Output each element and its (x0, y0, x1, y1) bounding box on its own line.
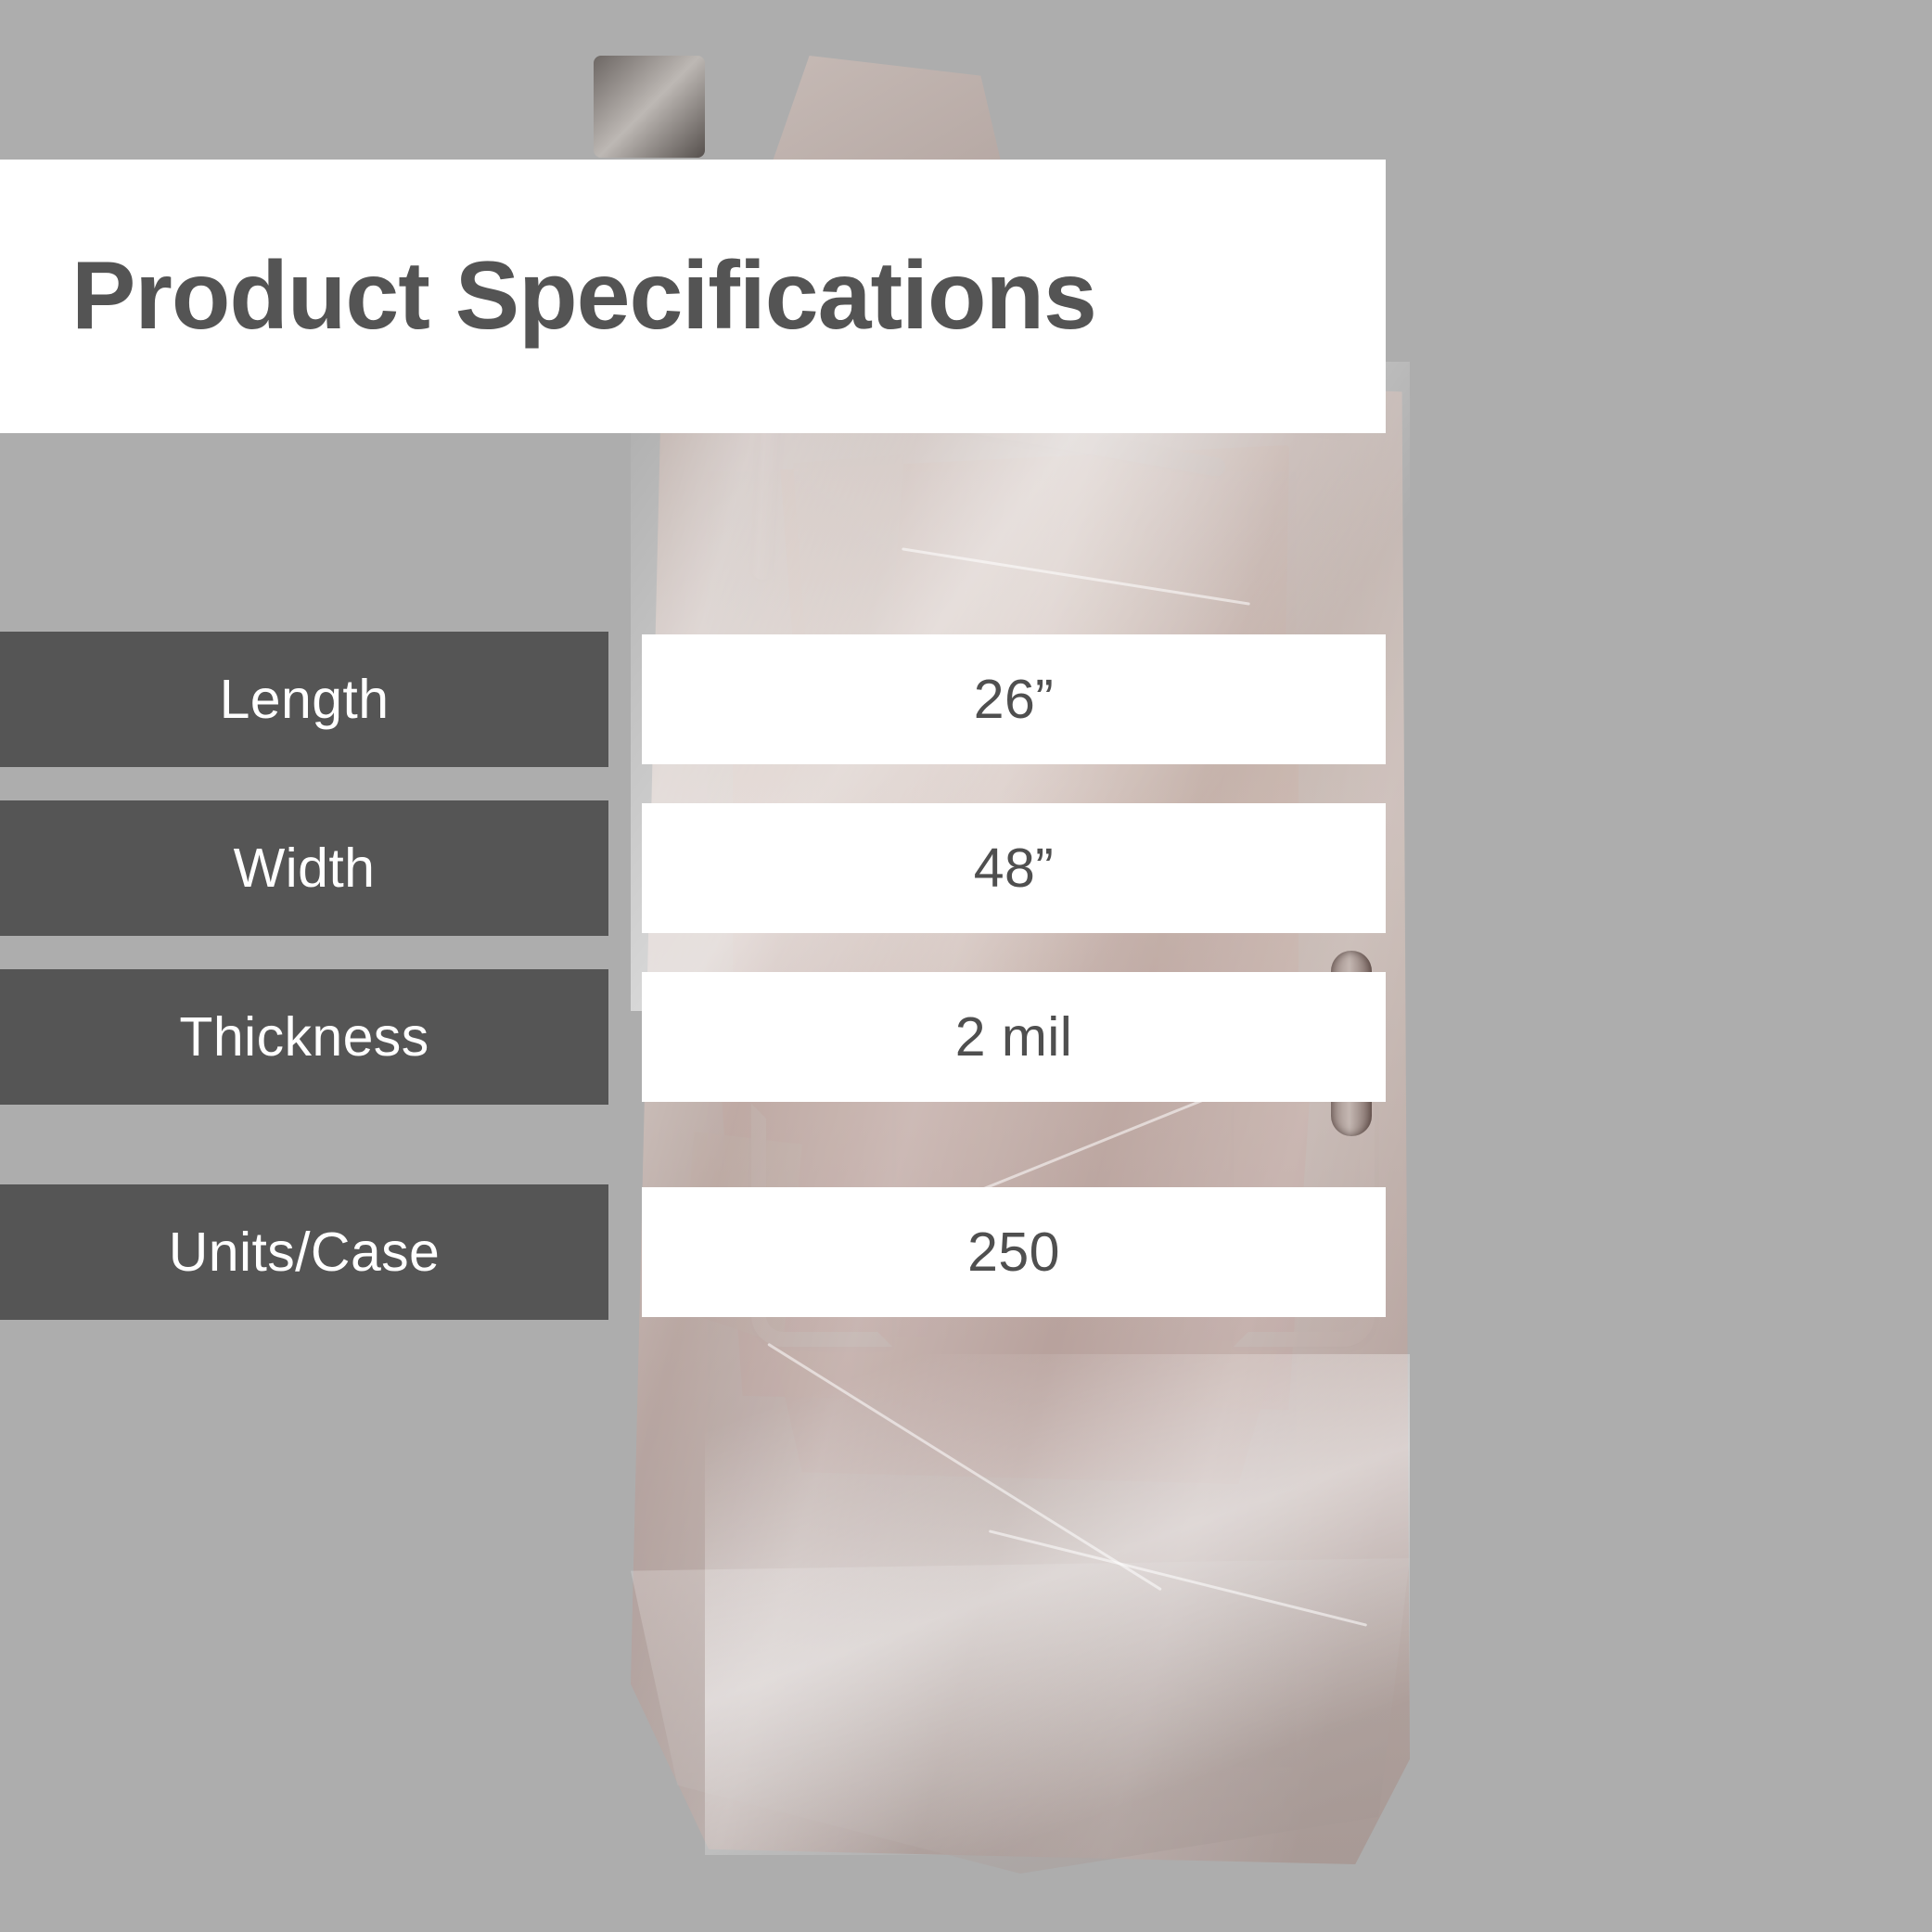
title-card: Product Specifications (0, 160, 1386, 433)
spec-label-thickness: Thickness (0, 969, 608, 1105)
spec-label-length: Length (0, 632, 608, 767)
spec-value-length: 26” (642, 634, 1386, 764)
spec-value-thickness: 2 mil (642, 972, 1386, 1102)
spec-value-units-per-case: 250 (642, 1187, 1386, 1317)
product-specifications-card: Product Specifications Length 26” Width … (0, 0, 1932, 1932)
frame-bracket (594, 56, 705, 158)
spec-value-width: 48” (642, 803, 1386, 933)
spec-label-units-per-case: Units/Case (0, 1184, 608, 1320)
spec-row: Units/Case 250 (0, 1184, 1386, 1320)
page-title: Product Specifications (71, 241, 1096, 352)
spec-row: Width 48” (0, 800, 1386, 936)
spec-label-width: Width (0, 800, 608, 936)
spec-row: Length 26” (0, 632, 1386, 767)
spec-row: Thickness 2 mil (0, 969, 1386, 1105)
